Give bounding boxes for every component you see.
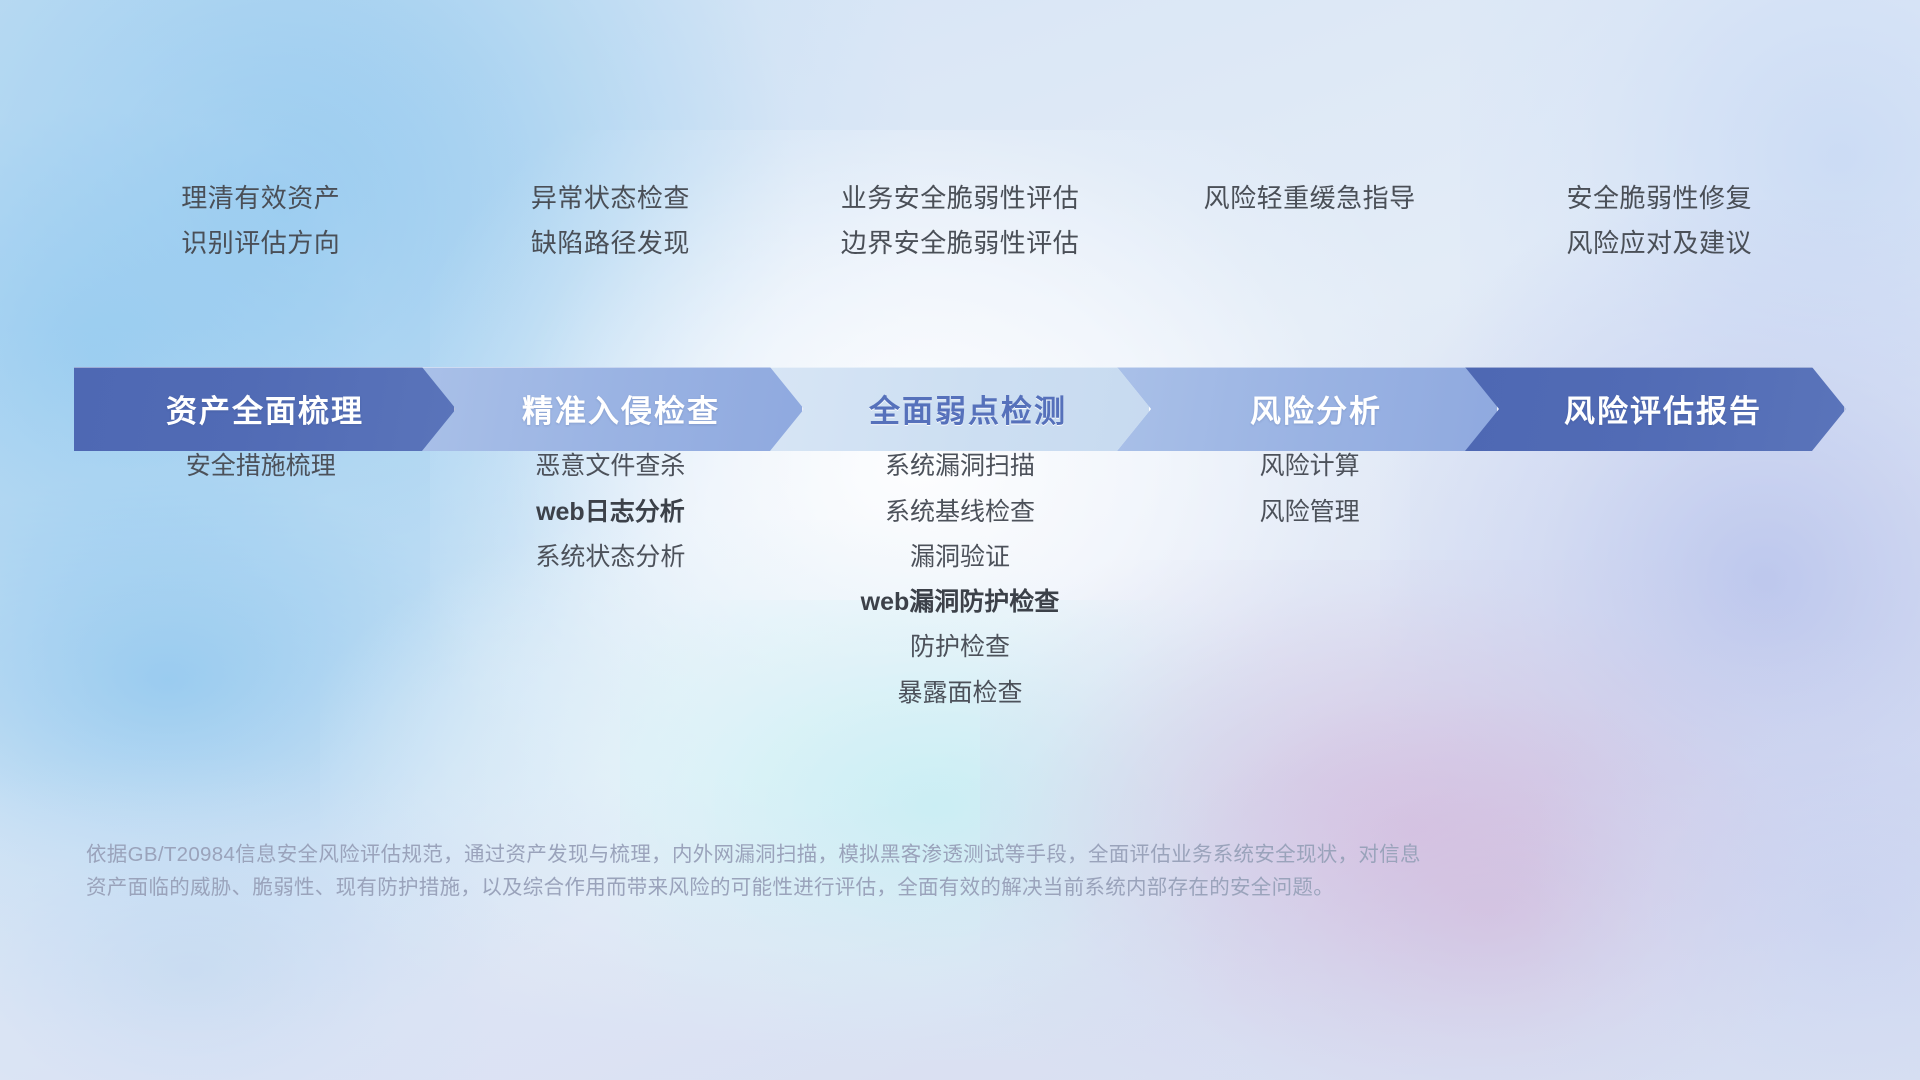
top-caption-col-intrusion-check: 异常状态检查缺陷路径发现 <box>436 182 786 259</box>
process-stage-weakness-detection[interactable]: 全面弱点检测 <box>769 367 1151 451</box>
bottom-caption-col-intrusion-check: webshell检查恶意文件查杀web日志分析系统状态分析 <box>436 406 786 709</box>
process-chevron-band: 资产全面梳理精准入侵检查全面弱点检测风险分析风险评估报告 <box>74 367 1846 451</box>
process-stage-label: 精准入侵检查 <box>522 386 720 431</box>
process-stage-risk-report[interactable]: 风险评估报告 <box>1464 367 1846 451</box>
bottom-caption-col-weakness-detection: web安全扫描系统漏洞扫描系统基线检查漏洞验证web漏洞防护检查防护检查暴露面检… <box>785 406 1135 709</box>
bottom-caption-line: 恶意文件查杀 <box>535 451 685 482</box>
bottom-caption-line: 漏洞验证 <box>910 542 1010 573</box>
footer-line-1: 依据GB/T20984信息安全风险评估规范，通过资产发现与梳理，内外网漏洞扫描，… <box>86 838 1586 871</box>
process-stage-label: 风险评估报告 <box>1564 386 1762 431</box>
top-caption-line: 缺陷路径发现 <box>531 227 690 260</box>
top-caption-col-asset-inventory: 理清有效资产识别评估方向 <box>86 182 436 259</box>
top-caption-col-risk-report: 安全脆弱性修复风险应对及建议 <box>1484 182 1834 259</box>
footer-description: 依据GB/T20984信息安全风险评估规范，通过资产发现与梳理，内外网漏洞扫描，… <box>86 838 1586 904</box>
bottom-caption-line: web漏洞防护检查 <box>861 587 1060 618</box>
process-diagram: 理清有效资产识别评估方向异常状态检查缺陷路径发现业务安全脆弱性评估边界安全脆弱性… <box>0 0 1920 1080</box>
top-caption-col-risk-analysis: 风险轻重缓急指导 <box>1135 182 1485 259</box>
bottom-caption-line: 暴露面检查 <box>897 678 1022 709</box>
top-caption-line: 业务安全脆弱性评估 <box>841 182 1080 215</box>
bottom-caption-line: 安全措施梳理 <box>186 451 336 482</box>
bottom-caption-col-risk-analysis: 已有安全控制措施风险计算风险管理 <box>1135 406 1485 709</box>
bottom-captions-row: 业务系统梳理安全措施梳理webshell检查恶意文件查杀web日志分析系统状态分… <box>86 406 1834 709</box>
process-stage-risk-analysis[interactable]: 风险分析 <box>1117 367 1499 451</box>
footer-line-2: 资产面临的威胁、脆弱性、现有防护措施，以及综合作用而带来风险的可能性进行评估，全… <box>86 871 1586 904</box>
top-captions-row: 理清有效资产识别评估方向异常状态检查缺陷路径发现业务安全脆弱性评估边界安全脆弱性… <box>86 182 1834 259</box>
bottom-caption-line: 系统基线检查 <box>885 497 1035 528</box>
top-caption-line: 识别评估方向 <box>181 227 340 260</box>
process-stage-label: 资产全面梳理 <box>166 386 364 431</box>
bottom-caption-col-risk-report: 安全风险加固及建议 <box>1484 406 1834 709</box>
bottom-caption-line: web日志分析 <box>536 497 685 528</box>
top-caption-line: 风险轻重缓急指导 <box>1204 182 1416 215</box>
bottom-caption-line: 系统漏洞扫描 <box>885 451 1035 482</box>
top-caption-line: 异常状态检查 <box>531 182 690 215</box>
process-stage-intrusion-check[interactable]: 精准入侵检查 <box>422 367 804 451</box>
top-caption-line: 安全脆弱性修复 <box>1566 182 1752 215</box>
top-caption-line: 风险应对及建议 <box>1566 227 1752 260</box>
bottom-caption-line: 系统状态分析 <box>535 542 685 573</box>
bottom-caption-col-asset-inventory: 业务系统梳理安全措施梳理 <box>86 406 436 709</box>
bottom-caption-line: 风险计算 <box>1260 451 1360 482</box>
bottom-caption-line: 风险管理 <box>1260 497 1360 528</box>
top-caption-line: 理清有效资产 <box>181 182 340 215</box>
process-stage-label: 全面弱点检测 <box>869 386 1067 431</box>
bottom-caption-line: 防护检查 <box>910 632 1010 663</box>
top-caption-line: 边界安全脆弱性评估 <box>841 227 1080 260</box>
process-stage-label: 风险分析 <box>1250 386 1382 431</box>
top-caption-col-weakness-detection: 业务安全脆弱性评估边界安全脆弱性评估 <box>785 182 1135 259</box>
process-stage-asset-inventory[interactable]: 资产全面梳理 <box>74 367 456 451</box>
